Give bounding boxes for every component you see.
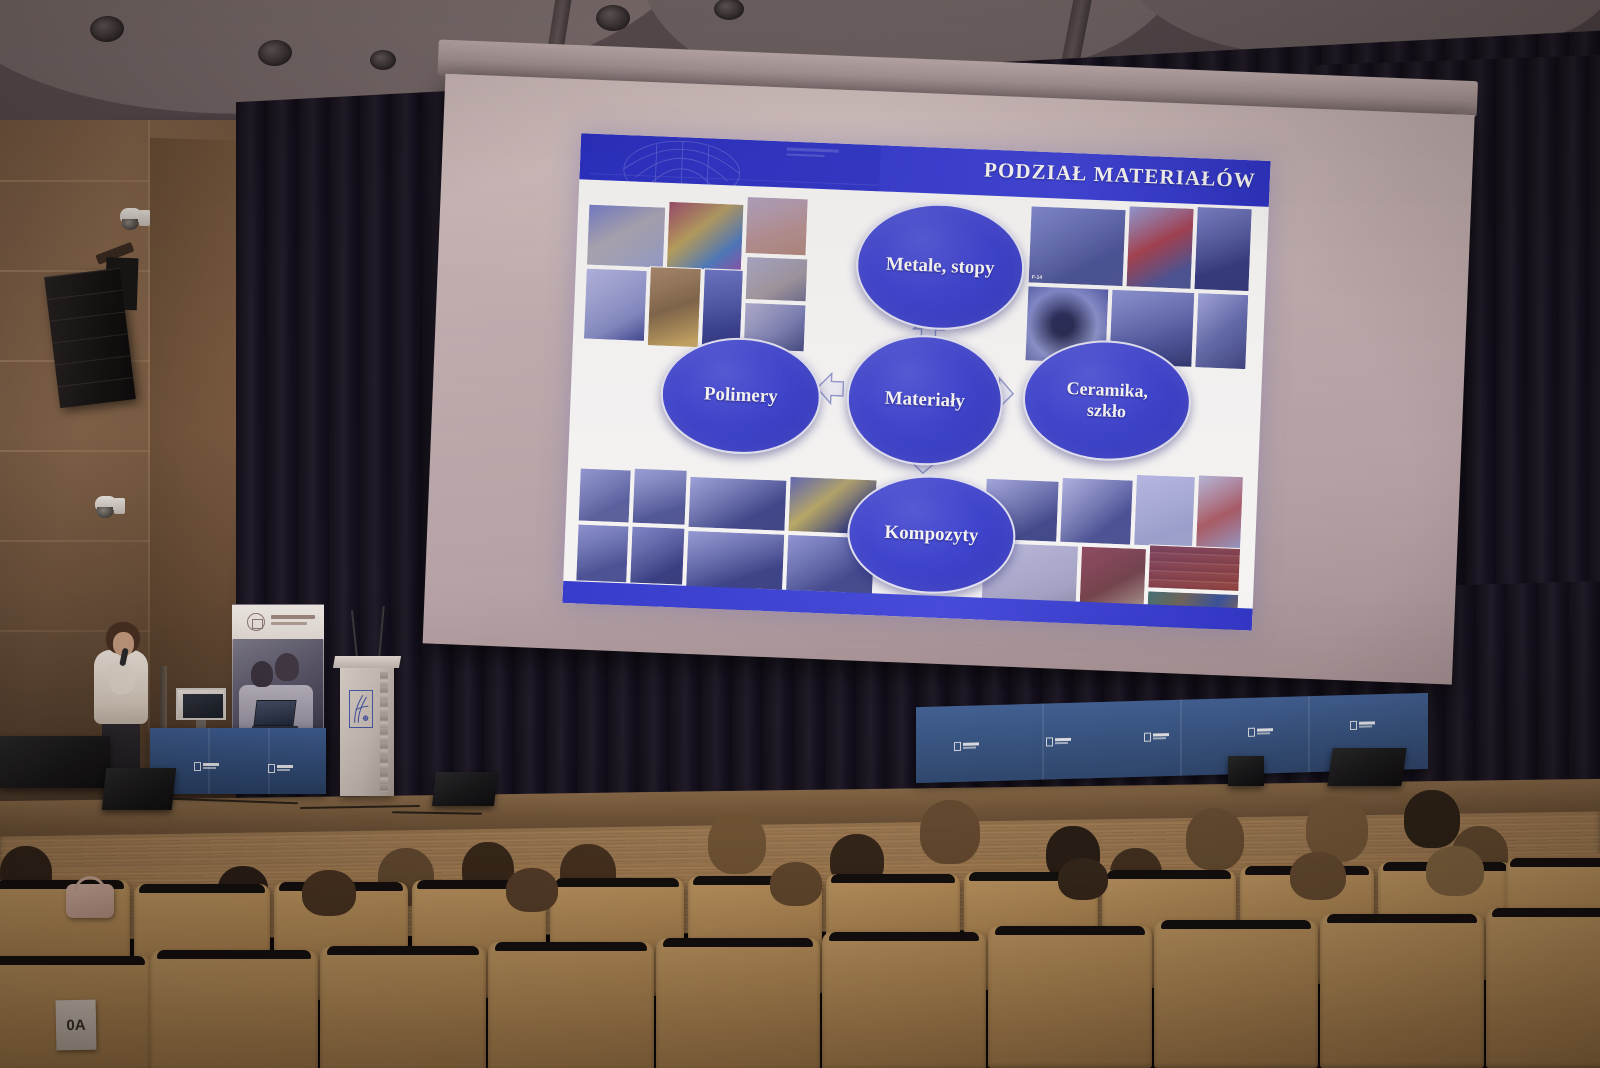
collage-tile-food-packaging	[586, 204, 666, 269]
collage-tile-machine-tool	[1125, 205, 1194, 290]
table-logo-icon	[1350, 720, 1376, 730]
downlight-icon	[370, 50, 396, 70]
handbag	[66, 884, 114, 918]
collage-tile-ceramic-rods	[1059, 477, 1134, 546]
collage-tile-plastic-toys	[666, 201, 745, 272]
collage-tile-brick-wall	[1147, 544, 1241, 592]
stage-speaker	[1327, 748, 1406, 786]
diagram-node-materials: Materiały	[844, 332, 1005, 468]
audience-head	[770, 862, 822, 906]
auditorium-seat	[822, 932, 986, 1068]
audience-head	[1290, 852, 1346, 900]
collage-tile-white-helmet	[583, 268, 648, 342]
audience-head	[1058, 858, 1108, 900]
collage-tile-fighter-jet: F-14	[1028, 205, 1127, 287]
collage-tile-plastic-products	[744, 196, 808, 256]
audience-head	[1426, 846, 1484, 896]
stage-speaker	[1228, 756, 1264, 786]
stage-monitor-display	[176, 688, 226, 728]
auditorium-seat	[1486, 908, 1600, 1068]
auditorium-seat	[150, 950, 318, 1068]
diagram-node-polymers: Polimery	[659, 335, 824, 457]
auditorium-seat	[488, 942, 654, 1068]
table-logo-icon	[1046, 737, 1072, 747]
collage-tile-bone-implant	[1195, 474, 1244, 550]
diagram-node-metals: Metale, stopy	[854, 200, 1027, 333]
auditorium-seat	[656, 938, 820, 1068]
line-array-speaker	[44, 268, 136, 408]
projected-slide: PODZIAŁ MATERIAŁÓW F-14	[562, 133, 1270, 630]
lectern-logo-icon	[349, 690, 373, 728]
collage-tile-golden-panel	[647, 266, 702, 348]
collage-tile-space-shuttle	[685, 530, 785, 592]
collage-tile-prosthetic-leg	[578, 467, 632, 523]
table-logo-icon	[1248, 727, 1274, 737]
stage-speaker	[0, 736, 110, 788]
audience-head	[1186, 808, 1244, 870]
collage-tile-paint-roller	[745, 256, 809, 302]
audience-head	[506, 868, 558, 912]
banner-logo-icon	[247, 613, 265, 631]
audience-head	[1404, 790, 1460, 848]
collage-tile-metal-bottle	[1193, 206, 1252, 292]
slide-title: PODZIAŁ MATERIAŁÓW	[984, 157, 1257, 193]
lectern	[340, 664, 394, 796]
downlight-icon	[596, 5, 630, 31]
diagram-node-composites-label: Kompozyty	[878, 521, 985, 547]
auditorium-seat	[1154, 920, 1318, 1068]
auditorium-seat	[988, 926, 1152, 1068]
stage-speaker	[432, 772, 498, 806]
audience-head	[708, 812, 766, 874]
projection-screen: PODZIAŁ MATERIAŁÓW F-14	[392, 39, 1496, 702]
diagram-node-metals-label: Metale, stopy	[879, 253, 1000, 280]
auditorium-seat	[320, 946, 486, 1068]
slide-body: F-14	[563, 179, 1269, 608]
table-logo-icon	[954, 741, 980, 751]
collage-tile-prosthetic-frame	[629, 526, 685, 586]
ptz-camera-icon	[120, 208, 150, 232]
ptz-camera-icon	[95, 496, 131, 524]
stage-speaker	[102, 768, 176, 810]
diagram-node-ceramics-label: Ceramika, szkło	[1053, 378, 1160, 424]
auditorium-seat	[1320, 914, 1484, 1068]
table-logo-icon	[268, 764, 294, 773]
table-logo-icon	[194, 762, 220, 771]
diagram-node-materials-label: Materiały	[878, 387, 971, 413]
av-table	[150, 728, 326, 794]
diagram-node-polymers-label: Polimery	[697, 383, 784, 408]
collage-tile-passenger-aircraft	[687, 476, 787, 532]
collage-label-f14: F-14	[1032, 274, 1043, 280]
collage-tile-metal-rods	[1194, 292, 1249, 370]
collage-tile-prosthetic-joint	[575, 523, 629, 583]
row-sign: 0A	[56, 1000, 97, 1051]
collage-tile-skeleton	[1133, 474, 1196, 548]
collage-tile-prosthetic-arm	[632, 468, 688, 526]
lecture-hall-scene: PODZIAŁ MATERIAŁÓW F-14	[0, 0, 1600, 1068]
monitor-arm	[160, 666, 167, 732]
audience-head	[302, 870, 356, 916]
table-logo-icon	[1144, 732, 1170, 742]
audience-head	[920, 800, 980, 864]
